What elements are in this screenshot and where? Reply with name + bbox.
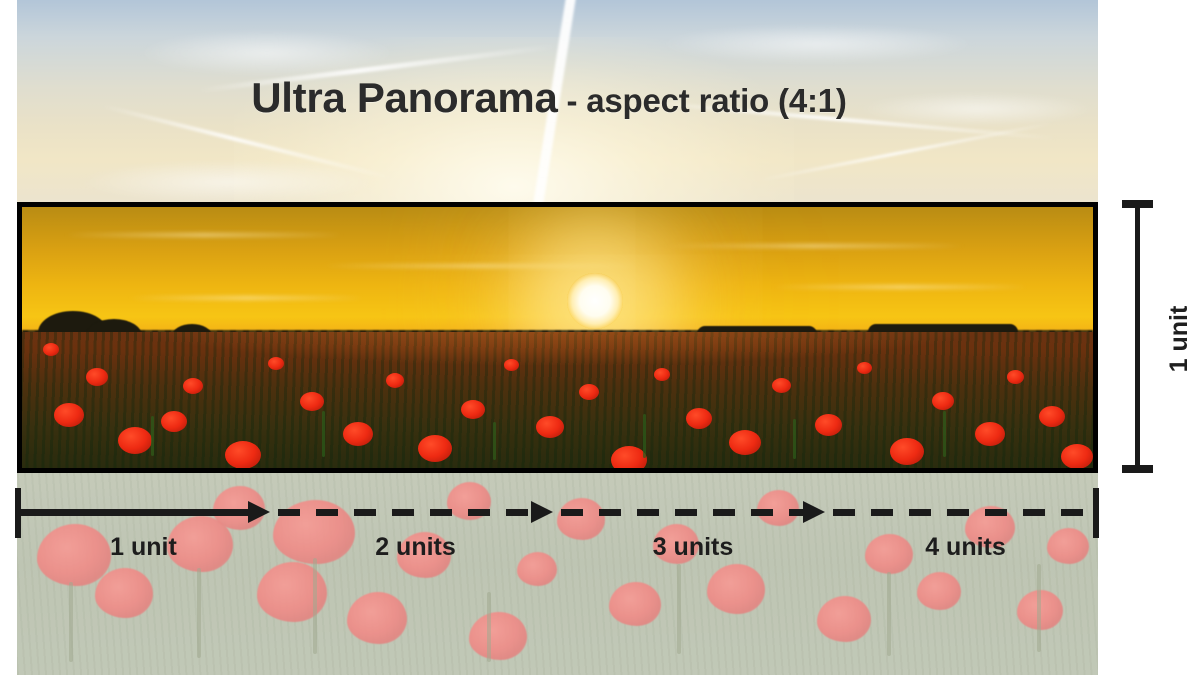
ruler-segment-1: 1 unit	[17, 509, 270, 516]
segment-line-dashed	[561, 509, 803, 516]
segment-line-dashed	[278, 509, 531, 516]
ruler-segment-label: 2 units	[278, 533, 553, 562]
arrow-head-icon	[531, 501, 553, 523]
segment-line-solid	[17, 509, 248, 516]
title-main: Ultra Panorama	[251, 74, 557, 121]
title-rest: - aspect ratio (4:1)	[558, 82, 847, 119]
panorama-image	[22, 207, 1093, 468]
cloud-wisp	[137, 30, 397, 76]
measure-bar	[1135, 205, 1140, 473]
contrail-icon	[759, 121, 1054, 181]
ruler-segment-label: 4 units	[833, 533, 1098, 562]
ruler-segment-label: 1 unit	[17, 533, 270, 562]
segment-line-dashed	[833, 509, 1095, 516]
height-measure-label: 1 unit	[1165, 306, 1194, 373]
page-title: Ultra Panorama - aspect ratio (4:1)	[0, 74, 1098, 122]
measure-cap-bottom	[1122, 465, 1153, 473]
ruler-segment-3: 3 units	[561, 509, 825, 516]
cloud-wisp	[77, 160, 377, 204]
poppy-field	[22, 332, 1093, 468]
slide-canvas: Ultra Panorama - aspect ratio (4:1)	[0, 0, 1200, 675]
ruler-segment-2: 2 units	[278, 509, 553, 516]
arrow-head-icon	[248, 501, 270, 523]
width-ruler: 1 unit 2 units 3 units 4 units	[0, 488, 1200, 568]
arrow-head-icon	[803, 501, 825, 523]
ruler-segment-4: 4 units	[833, 509, 1098, 516]
ruler-segment-label: 3 units	[561, 533, 825, 562]
sun-icon	[567, 273, 623, 329]
cloud-wisp	[657, 24, 977, 64]
height-measure: 1 unit	[1122, 200, 1192, 478]
panorama-photo	[17, 202, 1098, 473]
